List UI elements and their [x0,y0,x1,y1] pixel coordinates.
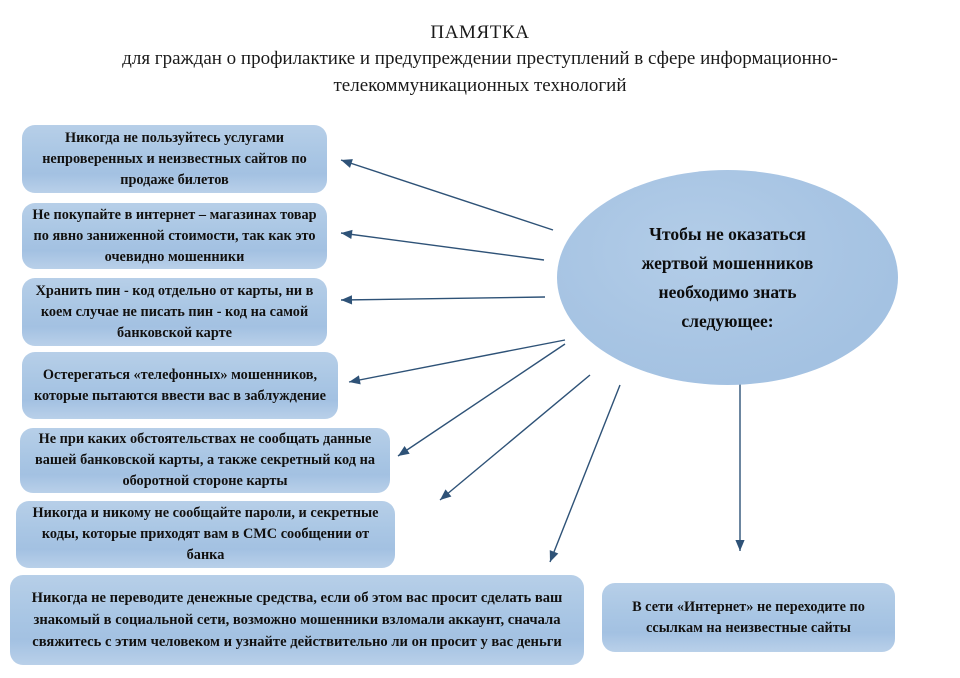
tip-text-sms-codes: Никогда и никому не сообщайте пароли, и … [26,503,385,566]
tip-text-card-data: Не при каких обстоятельствах не сообщать… [30,429,380,492]
tip-text-tickets: Никогда не пользуйтесь услугами непровер… [32,128,317,191]
page-title: ПАМЯТКА для граждан о профилактике и пре… [80,20,880,99]
tip-box-phone-fraud[interactable]: Остерегаться «телефонных» мошенников, ко… [22,352,338,419]
tip-text-money-transfer: Никогда не переводите денежные средства,… [20,587,574,653]
tip-box-sms-codes[interactable]: Никогда и никому не сообщайте пароли, и … [16,501,395,568]
arrow-center-to-card-data [398,344,565,456]
central-ellipse[interactable]: Чтобы не оказатьсяжертвой мошенниковнеоб… [557,170,898,385]
diagram-page: ПАМЯТКА для граждан о профилактике и пре… [0,0,960,678]
arrow-center-to-tickets [341,159,553,230]
arrow-center-to-online-shops [341,230,544,260]
tip-box-money-transfer[interactable]: Никогда не переводите денежные средства,… [10,575,584,665]
tip-box-tickets[interactable]: Никогда не пользуйтесь услугами непровер… [22,125,327,193]
arrow-center-to-pin-code [341,295,545,304]
arrow-center-to-unknown-links [735,383,744,551]
tip-text-phone-fraud: Остерегаться «телефонных» мошенников, ко… [32,365,328,407]
tip-text-unknown-links: В сети «Интернет» не переходите по ссылк… [612,597,885,639]
tip-box-online-shops[interactable]: Не покупайте в интернет – магазинах това… [22,203,327,269]
central-ellipse-line-0: Чтобы не оказаться [642,220,814,249]
tip-text-online-shops: Не покупайте в интернет – магазинах това… [32,205,317,268]
arrow-center-to-sms-codes [440,375,590,500]
tip-box-unknown-links[interactable]: В сети «Интернет» не переходите по ссылк… [602,583,895,652]
arrow-center-to-money-transfer [550,385,620,562]
title-line-1: для граждан о профилактике и предупрежде… [80,45,880,72]
tip-text-pin-code: Хранить пин - код отдельно от карты, ни … [32,281,317,344]
central-ellipse-text: Чтобы не оказатьсяжертвой мошенниковнеоб… [642,220,814,336]
tip-box-card-data[interactable]: Не при каких обстоятельствах не сообщать… [20,428,390,493]
title-heading: ПАМЯТКА [80,20,880,45]
central-ellipse-line-1: жертвой мошенников [642,249,814,278]
central-ellipse-line-2: необходимо знать [642,278,814,307]
central-ellipse-line-3: следующее: [642,307,814,336]
arrow-center-to-phone-fraud [349,340,565,384]
tip-box-pin-code[interactable]: Хранить пин - код отдельно от карты, ни … [22,278,327,346]
title-line-2: телекоммуникационных технологий [80,72,880,99]
